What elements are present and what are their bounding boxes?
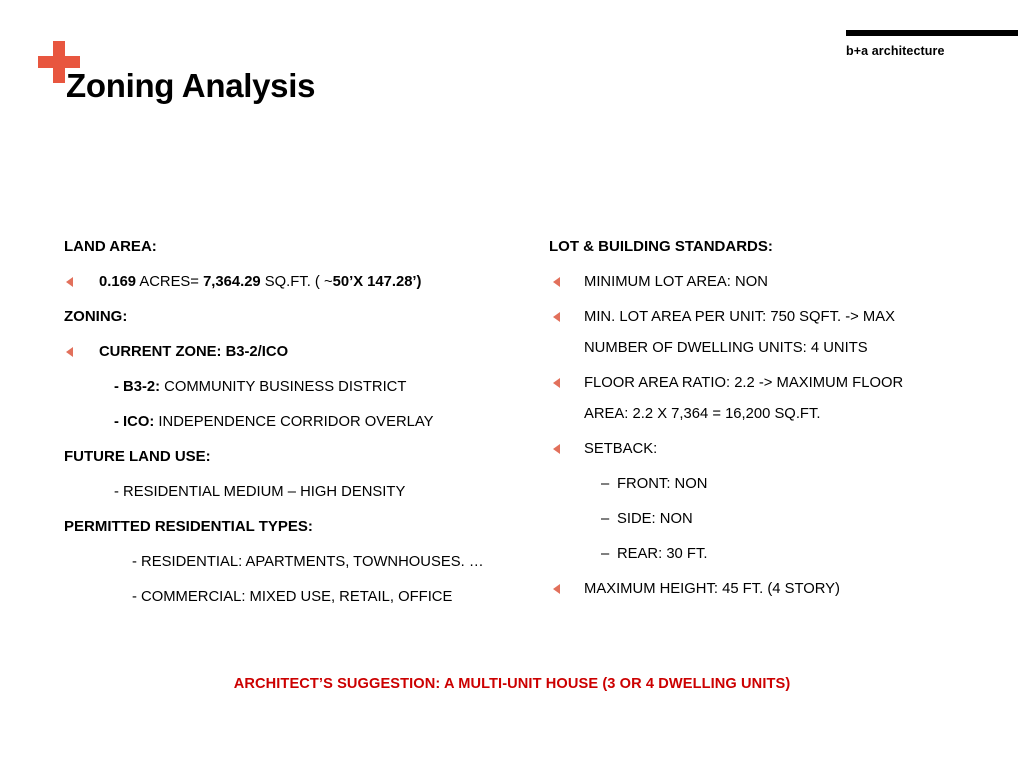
left-column: LAND AREA: 0.169 ACRES= 7,364.29 SQ.FT. … (64, 236, 534, 608)
brand-rule (846, 30, 1018, 36)
triangle-bullet-icon (553, 584, 560, 594)
endash-bullet-icon: – (601, 543, 609, 565)
triangle-bullet-icon (553, 312, 560, 322)
setback-item: SETBACK: (549, 438, 999, 460)
land-area-dimensions: 50’X 147.28’) (333, 274, 422, 290)
triangle-bullet-icon (66, 277, 73, 287)
setback-front-text: FRONT: NON (617, 476, 707, 492)
setback-rear-text: REAR: 30 FT. (617, 546, 707, 562)
zoning-heading: ZONING: (64, 306, 534, 328)
plus-icon-vertical-bar (53, 41, 65, 83)
min-lot-per-unit-item: MIN. LOT AREA PER UNIT: 750 SQFT. -> MAX (549, 306, 999, 328)
zone-ico-value: INDEPENDENCE CORRIDOR OVERLAY (154, 414, 433, 430)
setback-heading: SETBACK: (584, 441, 657, 457)
setback-front-item: – FRONT: NON (549, 473, 999, 495)
setback-side-item: – SIDE: NON (549, 508, 999, 530)
triangle-bullet-icon (553, 378, 560, 388)
floor-area-ratio-line2: AREA: 2.2 X 7,364 = 16,200 SQ.FT. (549, 403, 999, 425)
permitted-commercial-item: - COMMERCIAL: MIXED USE, RETAIL, OFFICE (64, 586, 534, 608)
minimum-lot-area-text: MINIMUM LOT AREA: NON (584, 274, 768, 290)
land-area-acres-label: ACRES= (136, 274, 203, 290)
future-land-use-heading: FUTURE LAND USE: (64, 446, 534, 468)
zone-ico-item: - ICO: INDEPENDENCE CORRIDOR OVERLAY (64, 411, 534, 433)
endash-bullet-icon: – (601, 508, 609, 530)
lot-building-standards-heading: LOT & BUILDING STANDARDS: (549, 236, 999, 258)
brand-name: b+a architecture (846, 44, 1020, 58)
land-area-acres: 0.169 (99, 274, 136, 290)
land-area-value-item: 0.169 ACRES= 7,364.29 SQ.FT. ( ~50’X 147… (64, 271, 534, 293)
land-area-heading: LAND AREA: (64, 236, 534, 258)
zone-b32-item: - B3-2: COMMUNITY BUSINESS DISTRICT (64, 376, 534, 398)
permitted-residential-item: - RESIDENTIAL: APARTMENTS, TOWNHOUSES. … (64, 551, 534, 573)
zone-b32-label: - B3-2: (114, 379, 160, 395)
floor-area-ratio-line1: FLOOR AREA RATIO: 2.2 -> MAXIMUM FLOOR (584, 375, 903, 391)
future-land-use-value: - RESIDENTIAL MEDIUM – HIGH DENSITY (64, 481, 534, 503)
architect-suggestion-note: ARCHITECT’S SUGGESTION: A MULTI-UNIT HOU… (0, 676, 1024, 692)
triangle-bullet-icon (66, 347, 73, 357)
right-column: LOT & BUILDING STANDARDS: MINIMUM LOT AR… (549, 236, 999, 600)
triangle-bullet-icon (553, 444, 560, 454)
brand-logo: b+a architecture (846, 30, 1020, 58)
floor-area-ratio-item: FLOOR AREA RATIO: 2.2 -> MAXIMUM FLOOR (549, 372, 999, 394)
zone-ico-label: - ICO: (114, 414, 154, 430)
current-zone-label: CURRENT ZONE: B3-2/ICO (99, 344, 288, 360)
permitted-types-heading: PERMITTED RESIDENTIAL TYPES: (64, 516, 534, 538)
setback-side-text: SIDE: NON (617, 511, 693, 527)
current-zone-item: CURRENT ZONE: B3-2/ICO (64, 341, 534, 363)
maximum-height-text: MAXIMUM HEIGHT: 45 FT. (4 STORY) (584, 581, 840, 597)
triangle-bullet-icon (553, 277, 560, 287)
min-lot-per-unit-line1: MIN. LOT AREA PER UNIT: 750 SQFT. -> MAX (584, 309, 895, 325)
maximum-height-item: MAXIMUM HEIGHT: 45 FT. (4 STORY) (549, 578, 999, 600)
endash-bullet-icon: – (601, 473, 609, 495)
zone-b32-value: COMMUNITY BUSINESS DISTRICT (160, 379, 406, 395)
setback-rear-item: – REAR: 30 FT. (549, 543, 999, 565)
page-title: Zoning Analysis (66, 66, 315, 106)
min-lot-per-unit-line2: NUMBER OF DWELLING UNITS: 4 UNITS (549, 337, 999, 359)
minimum-lot-area-item: MINIMUM LOT AREA: NON (549, 271, 999, 293)
land-area-sqft-label: SQ.FT. ( ~ (261, 274, 333, 290)
slide-header: Zoning Analysis b+a architecture (0, 0, 1024, 130)
land-area-sqft: 7,364.29 (203, 274, 261, 290)
